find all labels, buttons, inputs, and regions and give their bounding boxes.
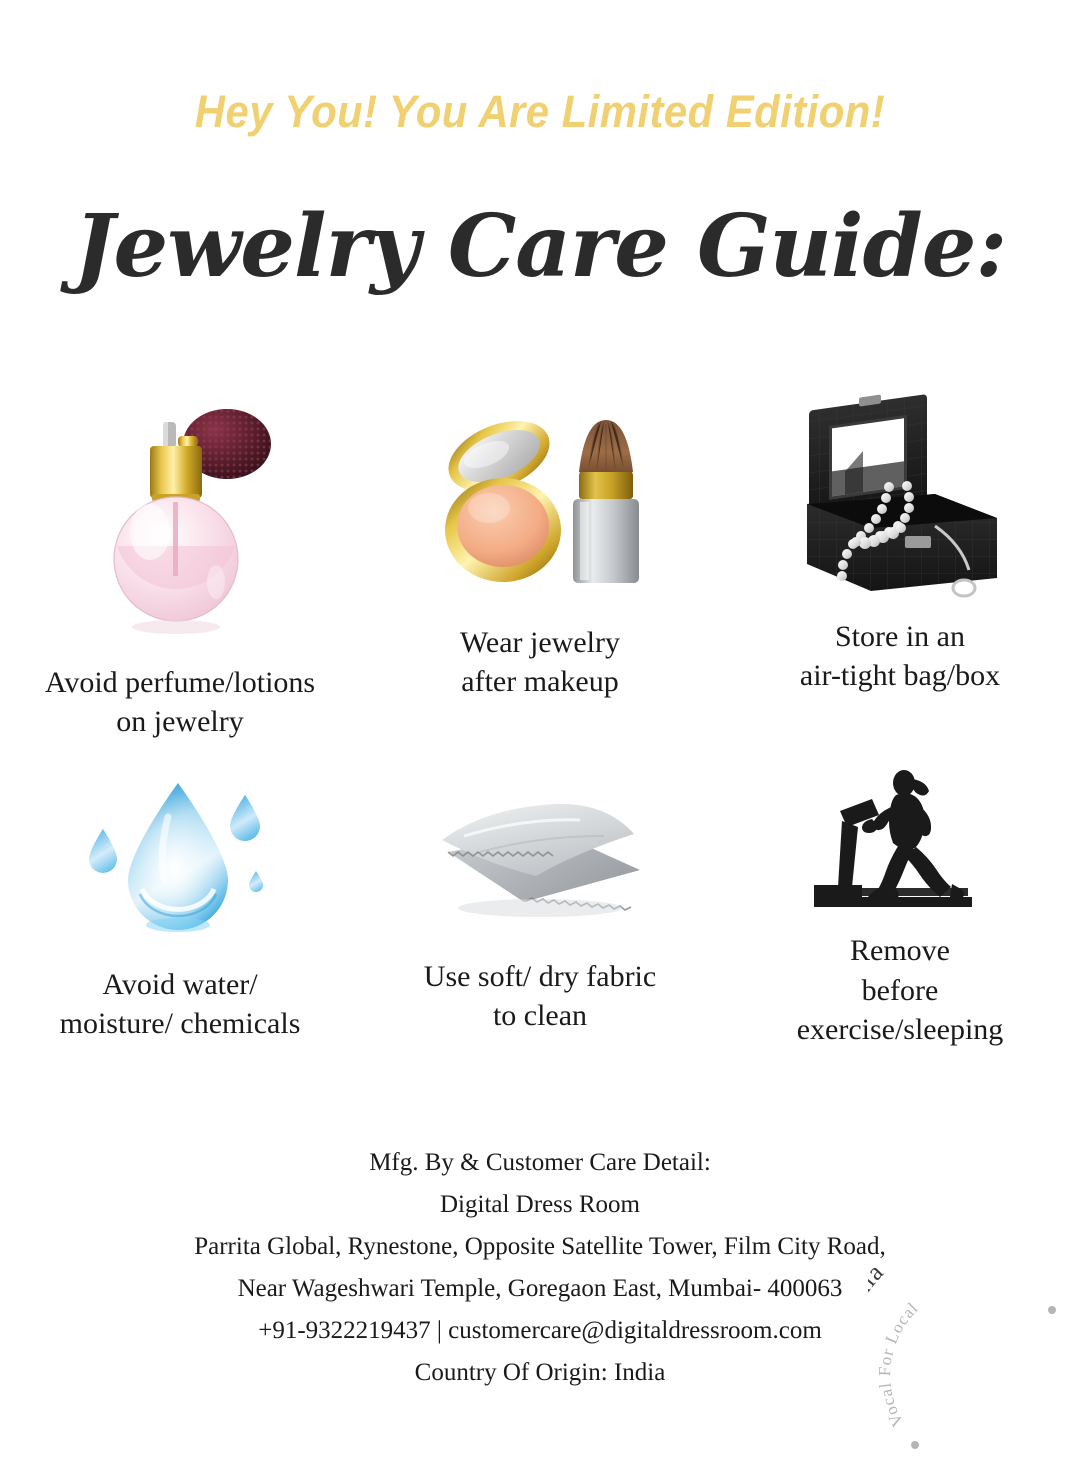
caption-line: on jewelry <box>45 702 315 742</box>
water-droplet-icon <box>70 767 290 947</box>
caption-line: moisture/ chemicals <box>60 1004 301 1044</box>
tip-caption-cloth: Use soft/ dry fabric to clean <box>418 957 662 1036</box>
tip-art-makeup <box>360 380 720 623</box>
badge-dot-left <box>911 1441 919 1449</box>
tip-caption-makeup: Wear jewelry after makeup <box>454 623 626 702</box>
tip-caption-storage: Store in an air-tight bag/box <box>794 617 1006 696</box>
tip-caption-perfume: Avoid perfume/lotions on jewelry <box>39 663 321 742</box>
caption-line: after makeup <box>460 662 620 702</box>
footer-line-company: Digital Dress Room <box>0 1184 1080 1226</box>
jewelry-box-icon <box>785 386 1015 611</box>
caption-line: Avoid water/ <box>60 965 301 1005</box>
footer-line-mfg: Mfg. By & Customer Care Detail: <box>0 1142 1080 1184</box>
caption-line: Remove <box>797 931 1004 971</box>
caption-line: exercise/sleeping <box>797 1010 1004 1050</box>
tip-art-perfume <box>0 380 360 663</box>
jewelry-care-guide-page: Hey You! You Are Limited Edition! Jewelr… <box>0 0 1080 1440</box>
tip-art-storage <box>720 380 1080 617</box>
badge-dot-right <box>1048 1306 1056 1314</box>
tip-card-water: Avoid water/ moisture/ chemicals <box>0 750 360 1050</box>
tip-card-makeup: Wear jewelry after makeup <box>360 380 720 750</box>
tip-card-perfume: Avoid perfume/lotions on jewelry <box>0 380 360 750</box>
tagline: Hey You! You Are Limited Edition! <box>38 86 1042 138</box>
makeup-compact-brush-icon <box>433 394 648 609</box>
tips-grid: Avoid perfume/lotions on jewelry <box>0 380 1080 1050</box>
caption-line: Use soft/ dry fabric <box>424 957 656 997</box>
tip-card-exercise: Remove before exercise/sleeping <box>720 750 1080 1050</box>
tip-caption-water: Avoid water/ moisture/ chemicals <box>54 965 307 1044</box>
tip-caption-exercise: Remove before exercise/sleeping <box>791 931 1010 1050</box>
caption-line: to clean <box>424 996 656 1036</box>
perfume-bottle-icon <box>75 396 285 646</box>
tips-row-2: Avoid water/ moisture/ chemicals <box>0 750 1080 1050</box>
tips-row-1: Avoid perfume/lotions on jewelry <box>0 380 1080 750</box>
tip-art-exercise <box>720 750 1080 931</box>
badge-inner-text: Vocal For Local <box>875 1298 922 1430</box>
caption-line: air-tight bag/box <box>800 656 1000 696</box>
made-in-india-seal-icon: Made In India Vocal For Local <box>868 1262 1068 1462</box>
page-title: Jewelry Care Guide: <box>0 196 1080 297</box>
caption-line: Avoid perfume/lotions <box>45 663 315 703</box>
caption-line: Wear jewelry <box>460 623 620 663</box>
treadmill-runner-icon <box>800 761 1000 921</box>
tip-art-water <box>0 750 360 965</box>
caption-line: Store in an <box>800 617 1000 657</box>
tip-card-storage: Store in an air-tight bag/box <box>720 380 1080 750</box>
tip-card-cloth: Use soft/ dry fabric to clean <box>360 750 720 1050</box>
caption-line: before <box>797 971 1004 1011</box>
polishing-cloth-icon <box>428 778 653 928</box>
tip-art-cloth <box>360 750 720 957</box>
made-in-india-badge: Made In India Vocal For Local <box>868 1262 1068 1462</box>
